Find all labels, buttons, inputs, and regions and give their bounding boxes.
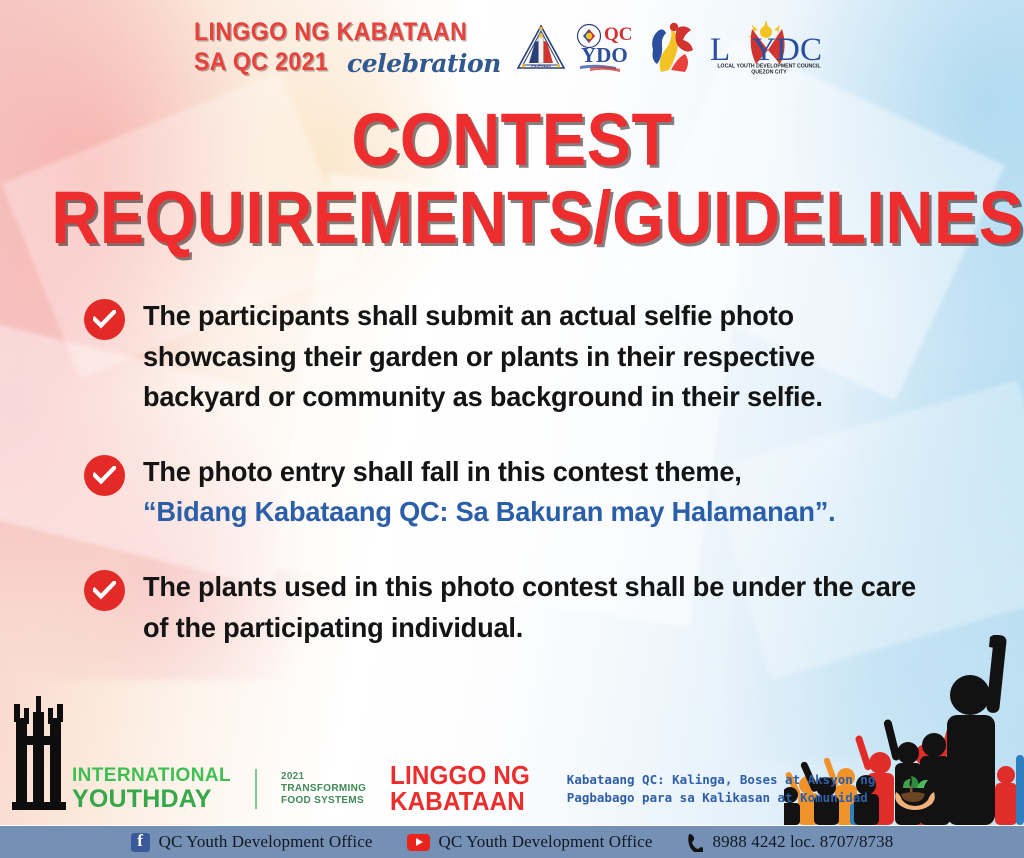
seal-caption: PILIPINAS: [531, 63, 551, 68]
svg-text:QC: QC: [604, 24, 633, 45]
guideline-body: The photo entry shall fall in this conte…: [143, 456, 742, 487]
divider: [255, 769, 257, 809]
contest-theme-text: “Bidang Kabataang QC: Sa Bakuran may Hal…: [143, 492, 836, 533]
header-logo-group: PILIPINAS QC YDO: [515, 20, 830, 76]
guideline-text: The photo entry shall fall in this conte…: [143, 452, 836, 533]
poster-canvas: LINGGO NG KABATAAN SA QC 2021 celebratio…: [0, 0, 1024, 858]
food-systems-line1: TRANSFORMING: [281, 783, 366, 795]
list-item: The participants shall submit an actual …: [84, 296, 964, 418]
footer-facebook[interactable]: QC Youth Development Office: [131, 832, 373, 852]
bottom-logo-row: INTERNATIONAL YOUTHDAY 2021 TRANSFORMING…: [0, 753, 1024, 825]
guidelines-list: The participants shall submit an actual …: [84, 296, 964, 648]
facebook-label: QC Youth Development Office: [159, 832, 373, 852]
guideline-body: The participants shall submit an actual …: [143, 300, 823, 412]
lnk-line2: KABATAAN: [390, 790, 530, 814]
svg-text:YDO: YDO: [581, 43, 628, 67]
page-title: CONTEST REQUIREMENTS/GUIDELINES:: [0, 105, 1024, 254]
phone-icon[interactable]: [686, 833, 703, 852]
page-title-line1: CONTEST: [51, 105, 973, 175]
check-icon: [84, 299, 125, 340]
page-title-line2: REQUIREMENTS/GUIDELINES:: [51, 183, 973, 253]
tagline-block: Kabataang QC: Kalinga, Boses at Aksyon n…: [567, 771, 876, 807]
iyd-line1: INTERNATIONAL: [72, 767, 231, 786]
linggo-ng-kabataan-logo: LINGGO NG KABATAAN: [390, 764, 541, 814]
seedling-in-hands-icon: [893, 768, 939, 810]
tagline-line2: Pagbabago para sa Kalikasan at Komunidad: [567, 789, 876, 807]
food-systems-block: 2021 TRANSFORMING FOOD SYSTEMS: [281, 771, 366, 806]
event-title-line1: LINGGO NG KABATAAN: [194, 20, 476, 45]
youtube-label: QC Youth Development Office: [439, 832, 653, 852]
footer-youtube[interactable]: QC Youth Development Office: [407, 832, 653, 852]
footer-bar: QC Youth Development Office QC Youth Dev…: [0, 825, 1024, 858]
food-systems-line2: FOOD SYSTEMS: [281, 795, 366, 807]
event-title-script: celebration: [347, 51, 501, 76]
guideline-body: The plants used in this photo contest sh…: [143, 571, 916, 643]
event-title-line2: SA QC 2021: [194, 50, 328, 75]
check-icon: [84, 570, 125, 611]
iyd-line2: YOUTHDAY: [72, 787, 231, 812]
guideline-text: The plants used in this photo contest sh…: [143, 567, 939, 648]
list-item: The photo entry shall fall in this conte…: [84, 452, 964, 533]
lnk-line1: LINGGO NG: [390, 764, 530, 788]
food-systems-year: 2021: [281, 771, 366, 783]
youtube-icon[interactable]: [407, 834, 430, 851]
check-icon: [84, 455, 125, 496]
list-item: The plants used in this photo contest sh…: [84, 567, 964, 648]
international-youth-day-logo: INTERNATIONAL YOUTHDAY: [72, 767, 231, 811]
qc-ydo-logo-icon: QC YDO: [576, 23, 638, 73]
facebook-icon[interactable]: [131, 833, 150, 852]
quezon-city-seal-icon: PILIPINAS: [515, 22, 567, 74]
footer-phone[interactable]: 8988 4242 loc. 8707/8738: [686, 832, 893, 852]
youth-figure-logo-icon: [647, 20, 699, 76]
lydc-subtitle-2: QUEZON CITY: [751, 69, 787, 75]
lydc-logo-icon: L Y D C LOCAL YOUTH DEVELOPMENT COUNCIL …: [708, 20, 830, 76]
guideline-text: The participants shall submit an actual …: [143, 296, 939, 418]
event-title-block: LINGGO NG KABATAAN SA QC 2021 celebratio…: [194, 20, 501, 75]
tagline-line1: Kabataang QC: Kalinga, Boses at Aksyon n…: [567, 771, 876, 789]
phone-label: 8988 4242 loc. 8707/8738: [712, 832, 893, 852]
header-band: LINGGO NG KABATAAN SA QC 2021 celebratio…: [0, 0, 1024, 95]
